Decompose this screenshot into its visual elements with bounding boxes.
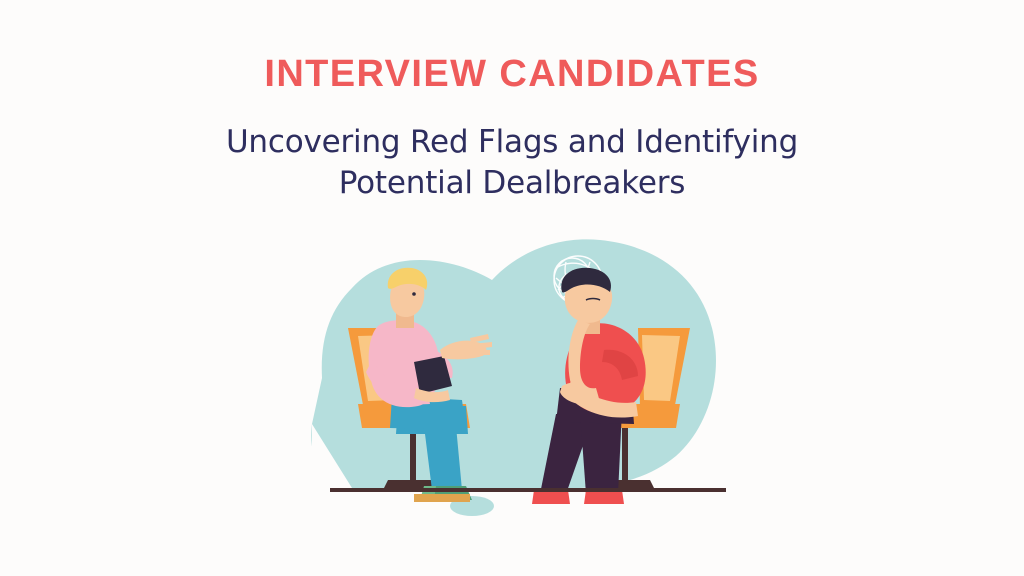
interviewer-foot-plank: [414, 494, 470, 502]
candidate-shoe-front: [584, 490, 624, 504]
candidate-shoe-back: [532, 490, 570, 504]
slide-canvas: INTERVIEW CANDIDATES Uncovering Red Flag…: [0, 0, 1024, 576]
subtitle-line-1: Uncovering Red Flags and Identifying: [0, 122, 1024, 163]
title-block: INTERVIEW CANDIDATES Uncovering Red Flag…: [0, 0, 1024, 204]
chair-right-post: [622, 428, 628, 480]
page-subtitle: Uncovering Red Flags and Identifying Pot…: [0, 96, 1024, 204]
page-title: INTERVIEW CANDIDATES: [0, 54, 1024, 96]
job-interview-illustration: [0, 228, 1024, 518]
ground-line: [330, 488, 726, 492]
chair-left-post: [410, 428, 416, 480]
subtitle-line-2: Potential Dealbreakers: [0, 163, 1024, 204]
interviewer-eye: [412, 292, 416, 296]
